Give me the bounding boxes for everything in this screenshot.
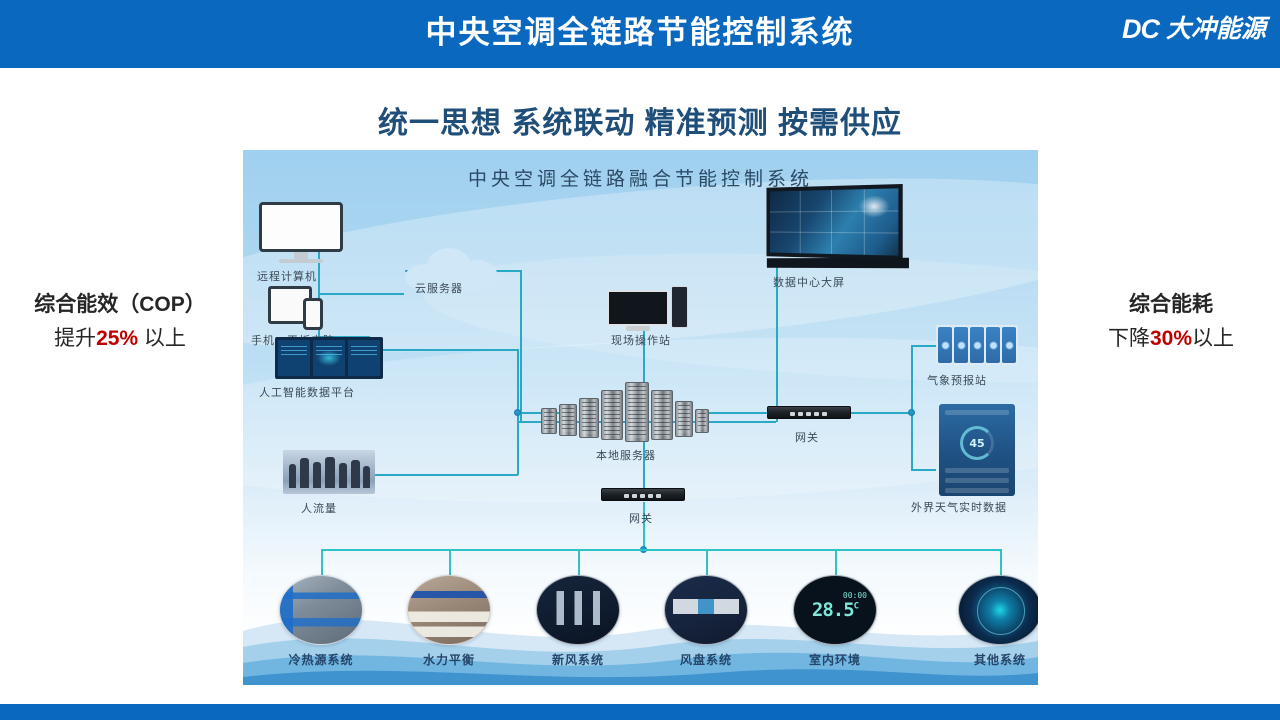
callout-cop-percent: 25% [96, 327, 138, 350]
system-icon-hydraulic-balance [407, 575, 491, 645]
slide-page: 中央空调全链路节能控制系统 DC 大冲能源 统一思想 系统联动 精准预测 按需供… [0, 0, 1280, 720]
callout-energy-percent: 30% [1150, 327, 1192, 350]
label-gateway-right: 网关 [795, 429, 819, 445]
label-people-flow: 人流量 [301, 500, 337, 516]
label-gateway-bottom: 网关 [629, 510, 653, 526]
ai-panel-column [278, 340, 310, 376]
link-cloud-bus [520, 270, 522, 422]
label-ai-data-platform: 人工智能数据平台 [259, 384, 355, 400]
label-fresh-air: 新风系统 [523, 651, 633, 668]
callout-energy: 综合能耗 下降30%以上 [1076, 288, 1266, 352]
workstation-monitor-icon [607, 290, 669, 326]
label-cold-heat-source: 冷热源系统 [266, 651, 376, 668]
weather-gauge: 45 [960, 426, 994, 460]
crowd-figure [325, 457, 335, 488]
monitor-base [279, 259, 323, 263]
label-weather-station: 气象预报站 [927, 372, 987, 388]
server-rack [675, 401, 693, 437]
local-server-cluster-icon [539, 378, 711, 442]
remote-computer-icon [259, 202, 343, 263]
gateway-bottom-icon [601, 488, 685, 501]
workstation-stand [626, 326, 650, 331]
label-cloud-server: 云服务器 [415, 280, 463, 296]
footer-bar [0, 704, 1280, 720]
link-weather-live [911, 469, 936, 471]
videowall-panels [766, 184, 902, 260]
label-workstation: 现场操作站 [611, 332, 671, 348]
fanout-drop-1 [321, 549, 323, 577]
label-fan-coil: 风盘系统 [651, 651, 761, 668]
gateway-right-icon [767, 406, 851, 419]
server-rack [579, 398, 599, 438]
ai-panel-column [313, 340, 345, 376]
link-weather-station [911, 345, 936, 347]
phone-icon [303, 298, 323, 330]
weather-card [986, 327, 1000, 363]
gateway-led [624, 494, 629, 498]
crowd-figure [351, 460, 360, 488]
weather-card [954, 327, 968, 363]
fanout-drop-3 [578, 549, 580, 577]
videowall-base [767, 258, 909, 269]
weather-card [970, 327, 984, 363]
diagram-title: 中央空调全链路融合节能控制系统 [243, 164, 1038, 191]
ai-panel-column [348, 340, 380, 376]
server-rack [601, 390, 623, 440]
monitor-screen [259, 202, 343, 252]
crowd-figure [300, 458, 309, 488]
videowall-gridline [800, 191, 801, 253]
logo-mark-text: DC [1122, 16, 1159, 43]
label-local-server: 本地服务器 [596, 447, 656, 463]
dashboard-bar [945, 488, 1009, 493]
workstation-tower-icon [671, 286, 688, 328]
videowall-glare [859, 195, 890, 218]
server-rack [541, 408, 557, 434]
ai-data-platform-icon [275, 337, 383, 379]
header-bar: 中央空调全链路节能控制系统 DC 大冲能源 [0, 0, 1280, 68]
label-outdoor-weather: 外界天气实时数据 [911, 499, 1007, 515]
system-architecture-diagram: 中央空调全链路融合节能控制系统 [243, 150, 1038, 685]
gateway-led [632, 494, 637, 498]
videowall-gridline [770, 232, 898, 234]
dashboard-bar [945, 410, 1009, 415]
link-gateway-right-bus [851, 412, 913, 414]
fanout-drop-6 [1000, 549, 1002, 577]
outdoor-weather-dashboard-icon: 45 [939, 404, 1015, 496]
gateway-led [640, 494, 645, 498]
callout-cop-prefix: 提升 [54, 327, 96, 350]
label-hydraulic-balance: 水力平衡 [394, 651, 504, 668]
system-icon-indoor-environment: 00:00 28.5C [793, 575, 877, 645]
server-rack [625, 382, 649, 442]
system-icon-other-systems [958, 575, 1038, 645]
callout-energy-prefix: 下降 [1108, 327, 1150, 350]
fanout-drop-5 [835, 549, 837, 577]
company-logo: DC 大冲能源 [1122, 16, 1266, 43]
dashboard-bar [945, 478, 1009, 483]
callout-cop: 综合能效（COP） 提升25% 以上 [10, 288, 230, 352]
callout-cop-value-line: 提升25% 以上 [10, 322, 230, 352]
weather-card [1002, 327, 1016, 363]
label-other-systems: 其他系统 [945, 651, 1038, 668]
callout-energy-value-line: 下降30%以上 [1076, 322, 1266, 352]
weather-card [938, 327, 952, 363]
slide-subtitle: 统一思想 系统联动 精准预测 按需供应 [0, 98, 1280, 142]
fanout-bus [321, 549, 1001, 551]
callout-energy-suffix: 以上 [1192, 327, 1234, 350]
system-icon-fan-coil [664, 575, 748, 645]
gateway-led [790, 412, 795, 416]
crowd-figure [339, 463, 347, 488]
data-center-videowall-icon [761, 186, 907, 268]
gateway-led [814, 412, 819, 416]
fanout-drop-4 [706, 549, 708, 577]
callout-energy-title: 综合能耗 [1076, 288, 1266, 318]
link-right-trunk [911, 345, 913, 470]
label-data-center-screen: 数据中心大屏 [773, 274, 845, 290]
label-indoor-environment: 室内环境 [780, 651, 890, 668]
callout-cop-suffix: 以上 [138, 327, 186, 350]
link-remote-pc [318, 293, 404, 295]
dashboard-bar [945, 468, 1009, 473]
crowd-figure [313, 462, 321, 488]
junction-dot [514, 409, 521, 416]
server-rack [651, 390, 673, 440]
gateway-led [806, 412, 811, 416]
people-flow-icon [283, 450, 375, 494]
page-title: 中央空调全链路节能控制系统 [0, 0, 1280, 68]
link-server-gateway-right [708, 412, 768, 414]
crowd-figure [363, 466, 370, 488]
gateway-led [822, 412, 827, 416]
server-rack [695, 409, 709, 433]
weather-forecast-station-icon [936, 325, 1018, 365]
gateway-led [798, 412, 803, 416]
label-remote-computer: 远程计算机 [257, 268, 317, 284]
server-rack [559, 404, 577, 436]
system-icon-fresh-air [536, 575, 620, 645]
fanout-drop-2 [449, 549, 451, 577]
junction-dot [908, 409, 915, 416]
system-icon-cold-heat-source [279, 575, 363, 645]
monitor-neck [294, 252, 308, 259]
callout-cop-title: 综合能效（COP） [10, 288, 230, 318]
thermostat-temperature: 28.5C [812, 599, 858, 621]
logo-company-name: 大冲能源 [1166, 17, 1266, 42]
gateway-led [648, 494, 653, 498]
gateway-led [656, 494, 661, 498]
videowall-gridline [831, 190, 832, 254]
crowd-figure [289, 464, 296, 488]
